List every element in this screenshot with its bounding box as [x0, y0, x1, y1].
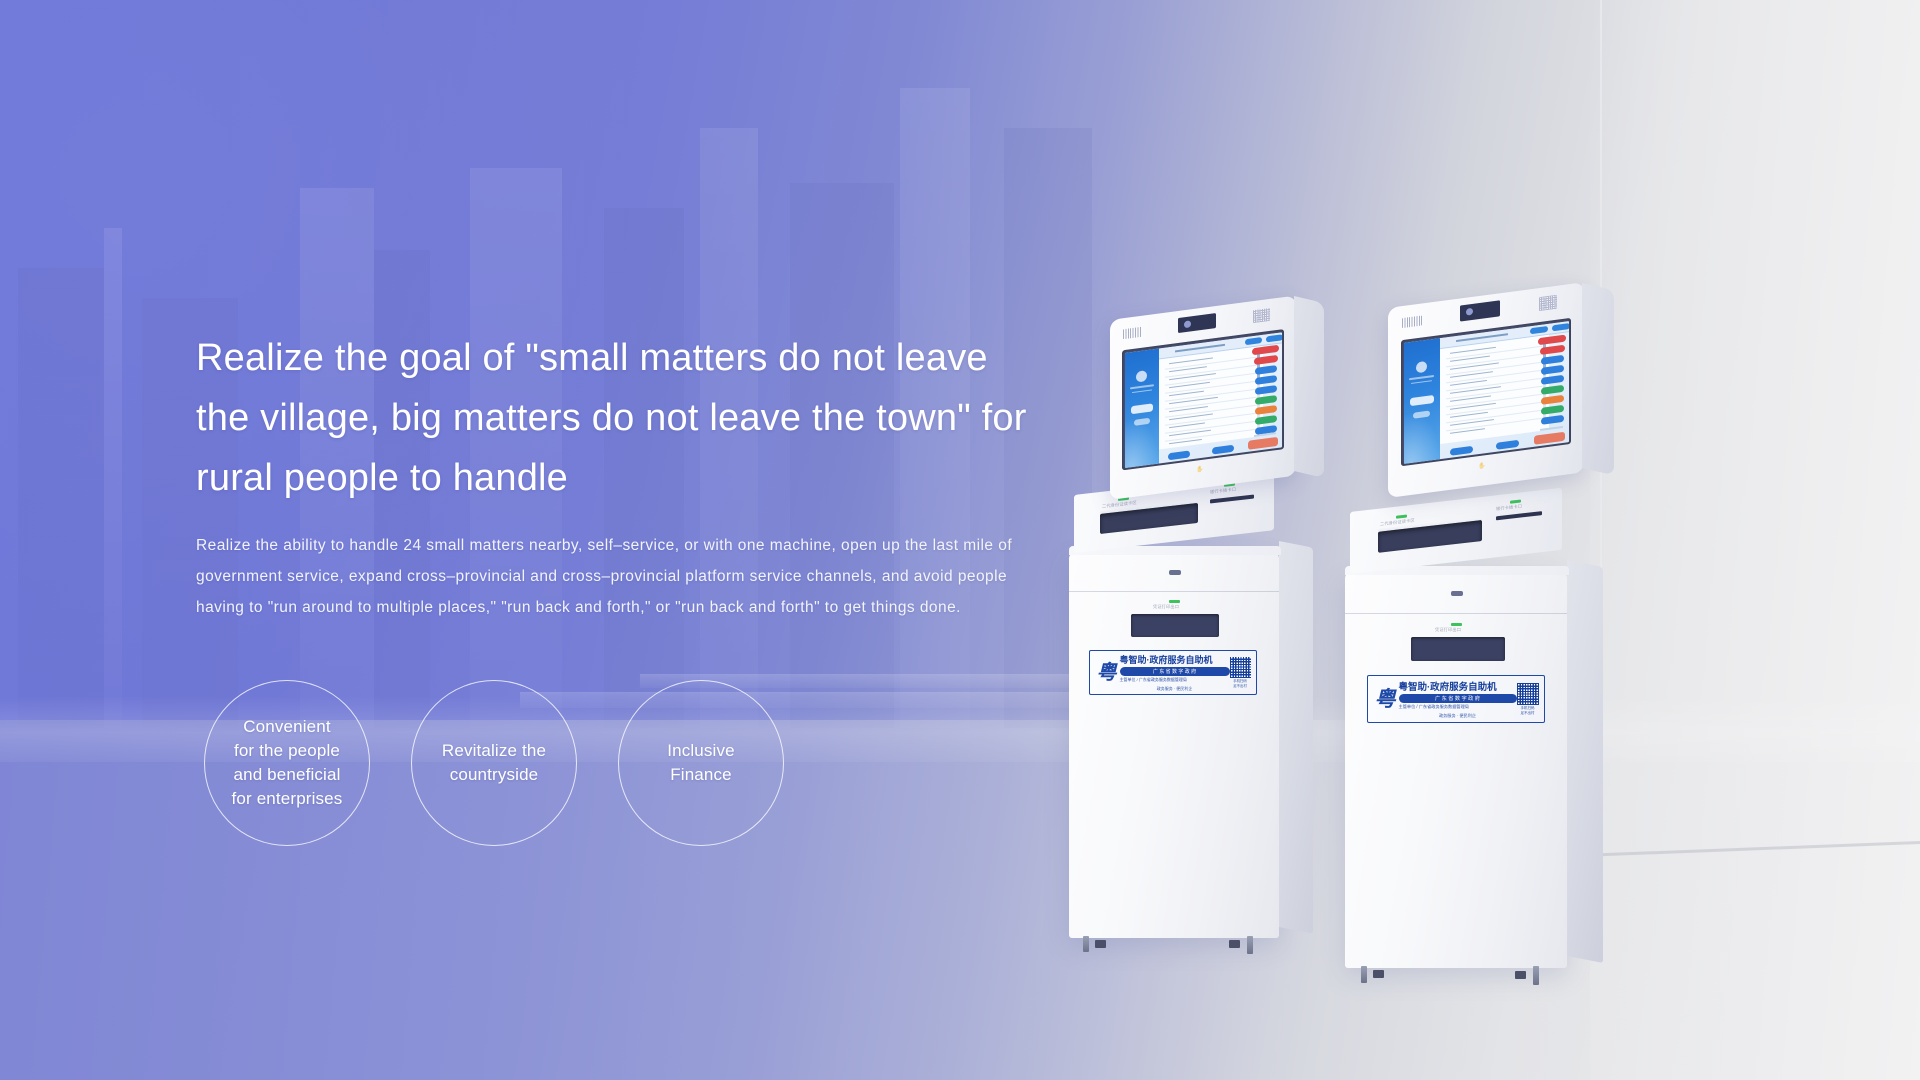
pillar-shape — [104, 228, 122, 728]
page-title: Realize the goal of "small matters do no… — [196, 328, 1046, 508]
screen-service-list[interactable] — [1440, 334, 1549, 443]
kiosk-right-screen[interactable] — [1404, 321, 1569, 464]
speaker-icon — [1539, 295, 1557, 311]
brand-band: 广 东 省 数 字 政 府 — [1399, 694, 1517, 703]
kiosk-left-head-side — [1294, 296, 1324, 478]
touch-indicator-icon: ✋ — [1478, 462, 1485, 470]
yue-logo-icon: 粤 — [1371, 689, 1396, 710]
qr-code-icon[interactable] — [1517, 683, 1539, 705]
screen-tab[interactable] — [1266, 334, 1281, 342]
hero-banner: Realize the goal of "small matters do no… — [0, 0, 1920, 1080]
kiosk-right-cabinet-side — [1567, 560, 1603, 963]
brand-title: 粤智助·政府服务自助机 — [1120, 653, 1230, 666]
screen-tab[interactable] — [1530, 326, 1548, 334]
pillar-shape — [18, 268, 104, 728]
leveling-foot — [1533, 966, 1539, 985]
brand-subtitle: 主管单位 / 广东省政务服务数据管理局 — [1120, 677, 1230, 683]
speaker-icon — [1253, 308, 1270, 323]
screen-service-list[interactable] — [1159, 345, 1263, 449]
screen-footer-button[interactable] — [1168, 450, 1190, 460]
brand-plate-inner: 粤 粤智助·政府服务自助机 广 东 省 数 字 政 府 主管单位 / 广东省政务… — [1093, 654, 1254, 692]
list-item[interactable] — [1169, 396, 1218, 404]
page-description: Realize the ability to handle 24 small m… — [196, 530, 1046, 623]
kiosk-right-screen-bezel — [1401, 318, 1571, 466]
screen-tab[interactable] — [1552, 323, 1569, 331]
brand-subtitle: 主管单位 / 广东省政务服务数据管理局 — [1399, 704, 1517, 710]
cabinet-latch[interactable] — [1169, 570, 1181, 575]
cabinet-seam — [1345, 613, 1567, 614]
hero-copy: Realize the goal of "small matters do no… — [196, 328, 1046, 623]
leveling-foot — [1247, 936, 1253, 954]
sidebar-avatar — [1416, 360, 1427, 372]
brand-plate-text: 粤智助·政府服务自助机 广 东 省 数 字 政 府 主管单位 / 广东省政务服务… — [1117, 653, 1230, 692]
leveling-foot-pad — [1515, 971, 1526, 979]
list-item[interactable] — [1450, 386, 1501, 394]
leveling-foot-pad — [1095, 940, 1106, 948]
brand-footer: 政务服务 · 便民利企 — [1120, 686, 1230, 692]
sidebar-search-chip[interactable] — [1131, 403, 1153, 414]
leveling-foot-pad — [1373, 970, 1384, 978]
qr-wrap: 手机扫码 足不出村 — [1517, 683, 1542, 715]
screen-help-button[interactable] — [1248, 436, 1278, 449]
sidebar-avatar — [1136, 370, 1147, 382]
kiosk-right-cabinet: 凭证打印出口 粤 粤智助·政府服务自助机 广 东 省 数 字 政 府 主管单位 … — [1345, 573, 1567, 968]
slot-label: 凭证打印出口 — [1435, 627, 1461, 633]
status-led — [1451, 623, 1462, 626]
sidebar-text-line — [1411, 380, 1432, 384]
sidebar-search-chip[interactable] — [1410, 395, 1434, 406]
slot-label: 凭证打印出口 — [1153, 604, 1179, 610]
slot-label: 银行卡插卡口 — [1496, 503, 1522, 512]
qr-wrap: 手机扫码 足不出村 — [1230, 657, 1254, 688]
screen-sidebar — [1125, 348, 1160, 468]
bank-card-slot[interactable] — [1210, 494, 1254, 503]
screen-footer-button[interactable] — [1212, 444, 1234, 454]
cabinet-seam — [1069, 591, 1279, 592]
screen-footer-button[interactable] — [1496, 439, 1519, 449]
feature-circle-countryside[interactable]: Revitalize the countryside — [411, 680, 577, 846]
feature-circle-convenient[interactable]: Convenient for the people and beneficial… — [204, 680, 370, 846]
sidebar-text-line — [1130, 384, 1154, 389]
screen-footer-button[interactable] — [1450, 445, 1473, 455]
receipt-printer-slot[interactable] — [1411, 637, 1505, 661]
brand-title: 粤智助·政府服务自助机 — [1399, 679, 1517, 693]
feature-circle-label: Revitalize the countryside — [442, 739, 546, 787]
feature-circle-label: Convenient for the people and beneficial… — [232, 715, 343, 811]
leveling-foot — [1083, 936, 1089, 952]
sidebar-text-line — [1132, 389, 1152, 393]
bank-card-slot[interactable] — [1496, 511, 1542, 520]
status-led — [1169, 600, 1180, 603]
cabinet-latch[interactable] — [1451, 591, 1463, 596]
feature-circle-finance[interactable]: Inclusive Finance — [618, 680, 784, 846]
brand-plate-inner: 粤 粤智助·政府服务自助机 广 东 省 数 字 政 府 主管单位 / 广东省政务… — [1371, 679, 1542, 720]
screen-tab[interactable] — [1245, 337, 1262, 345]
leveling-foot-pad — [1229, 940, 1240, 948]
qr-caption: 手机扫码 足不出村 — [1230, 679, 1251, 688]
yue-logo-icon: 粤 — [1093, 663, 1117, 683]
kiosk-left-head: ✋ — [1110, 296, 1296, 500]
qr-code-icon[interactable] — [1230, 657, 1251, 678]
feature-circle-label: Inclusive Finance — [667, 739, 735, 787]
touch-indicator-icon: ✋ — [1196, 466, 1203, 474]
list-item[interactable] — [1450, 362, 1499, 370]
slot-label: 银行卡插卡口 — [1210, 487, 1236, 496]
sidebar-text-line — [1409, 375, 1434, 380]
qr-caption: 手机扫码 足不出村 — [1517, 706, 1539, 715]
kiosk-right-brand-plate: 粤 粤智助·政府服务自助机 广 东 省 数 字 政 府 主管单位 / 广东省政务… — [1367, 675, 1545, 723]
kiosk-left-cabinet: 凭证打印出口 粤 粤智助·政府服务自助机 广 东 省 数 字 政 府 主管单位 … — [1069, 553, 1279, 938]
kiosk-left-brand-plate: 粤 粤智助·政府服务自助机 广 东 省 数 字 政 府 主管单位 / 广东省政务… — [1089, 650, 1257, 695]
screen-help-button[interactable] — [1534, 431, 1565, 444]
leveling-foot — [1361, 966, 1367, 983]
kiosk-left-screen-bezel — [1122, 329, 1284, 470]
brand-footer: 政务服务 · 便民利企 — [1399, 713, 1517, 719]
kiosk-right-head-side — [1582, 283, 1614, 475]
feature-circles: Convenient for the people and beneficial… — [204, 680, 784, 846]
receipt-printer-slot[interactable] — [1131, 614, 1219, 637]
screen-sidebar — [1404, 338, 1440, 464]
kiosk-right-head: ✋ — [1388, 282, 1584, 498]
kiosk-left-cabinet-side — [1279, 541, 1313, 934]
brand-band: 广 东 省 数 字 政 府 — [1120, 667, 1230, 676]
brand-plate-text: 粤智助·政府服务自助机 广 东 省 数 字 政 府 主管单位 / 广东省政务服务… — [1396, 679, 1517, 719]
kiosk-left-screen[interactable] — [1125, 332, 1282, 468]
